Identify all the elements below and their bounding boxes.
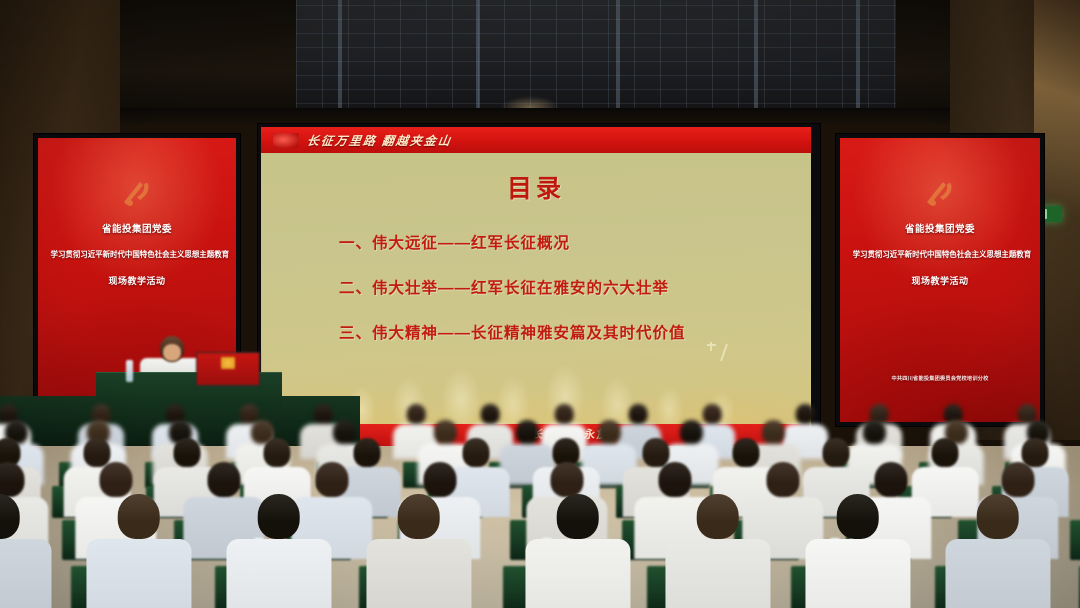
toc-item-2: 二、伟大壮举——红军长征在雅安的六大壮举 <box>339 276 781 298</box>
toc-item-3: 三、伟大精神——长征精神雅安篇及其时代价值 <box>339 321 781 343</box>
audience-member <box>0 494 51 608</box>
audience-member-head <box>658 462 691 497</box>
audience-member <box>525 494 630 608</box>
slide-title: 目录 <box>261 169 811 205</box>
audience-member-head <box>555 404 574 424</box>
speaker-water-bottle <box>126 360 133 382</box>
audience-member <box>805 494 910 608</box>
audience-member <box>366 494 471 608</box>
audience-member <box>945 494 1050 608</box>
audience-member-head <box>766 462 799 497</box>
audience-member-body <box>945 539 1050 608</box>
audience-member-head <box>932 438 959 467</box>
left-screen-theme: 学习贯彻习近平新时代中国特色社会主义思想主题教育 <box>51 250 224 260</box>
audience-member <box>86 494 191 608</box>
audience-member-head <box>550 462 583 497</box>
audience-member-head <box>874 462 907 497</box>
audience-member-body <box>805 539 910 608</box>
audience-member-head <box>0 494 20 539</box>
party-emblem-icon <box>110 172 164 216</box>
audience-member-head <box>556 494 599 539</box>
audience-desk <box>1070 520 1080 560</box>
audience-member-head <box>836 494 879 539</box>
slide-header-bar: 长征万里路 翻越夹金山 <box>261 127 811 153</box>
left-screen-org: 省能投集团党委 <box>44 224 230 236</box>
ceiling-soffit <box>120 108 950 124</box>
red-seal-icon <box>273 133 299 148</box>
main-presentation-screen: 长征万里路 翻越夹金山 目录 一、伟大远征——红军长征概况 二、伟大壮举——红军… <box>261 127 811 437</box>
toc-item-1: 一、伟大远征——红军长征概况 <box>339 231 781 253</box>
audience-member-body <box>665 539 770 608</box>
audience-member-head <box>598 420 620 444</box>
audience-member-body <box>0 539 51 608</box>
right-screen-footer: 中共四川省能投集团委员会党校培训分校 <box>846 376 1034 383</box>
audience-member <box>665 494 770 608</box>
right-screen-theme: 学习贯彻习近平新时代中国特色社会主义思想主题教育 <box>853 250 1028 260</box>
audience-member-head <box>823 438 850 467</box>
audience-member-head <box>481 404 500 424</box>
speaker-face <box>163 344 181 361</box>
audience-member-head <box>257 494 300 539</box>
audience-member-head <box>0 462 24 497</box>
right-side-screen: 省能投集团党委 学习贯彻习近平新时代中国特色社会主义思想主题教育 现场教学活动 … <box>840 138 1040 422</box>
left-screen-activity: 现场教学活动 <box>44 276 230 287</box>
audience-member-head <box>99 462 132 497</box>
audience-member <box>226 494 331 608</box>
slide-header-calligraphy: 长征万里路 翻越夹金山 <box>306 132 453 149</box>
right-screen-activity: 现场教学活动 <box>846 276 1034 287</box>
party-emblem-icon <box>913 172 967 216</box>
audience-member-body <box>366 539 471 608</box>
ceiling-lattice-grid <box>296 0 896 118</box>
audience-member-head <box>264 438 291 467</box>
right-screen-org: 省能投集团党委 <box>846 224 1034 236</box>
audience-member-head <box>976 494 1019 539</box>
audience-member-head <box>207 462 240 497</box>
slide-table-of-contents: 一、伟大远征——红军长征概况 二、伟大壮举——红军长征在雅安的六大壮举 三、伟大… <box>339 231 781 366</box>
laptop-icon <box>196 352 260 386</box>
audience-member-head <box>696 494 739 539</box>
audience-member-head <box>1001 462 1034 497</box>
audience-member-body <box>525 539 630 608</box>
audience-member-body <box>86 539 191 608</box>
audience-member-head <box>423 462 456 497</box>
conference-hall-photo: 省能投集团党委 学习贯彻习近平新时代中国特色社会主义思想主题教育 现场教学活动 … <box>0 0 1080 608</box>
audience-member-body <box>226 539 331 608</box>
audience-member-head <box>315 462 348 497</box>
audience-member-head <box>117 494 160 539</box>
audience-member-head <box>397 494 440 539</box>
